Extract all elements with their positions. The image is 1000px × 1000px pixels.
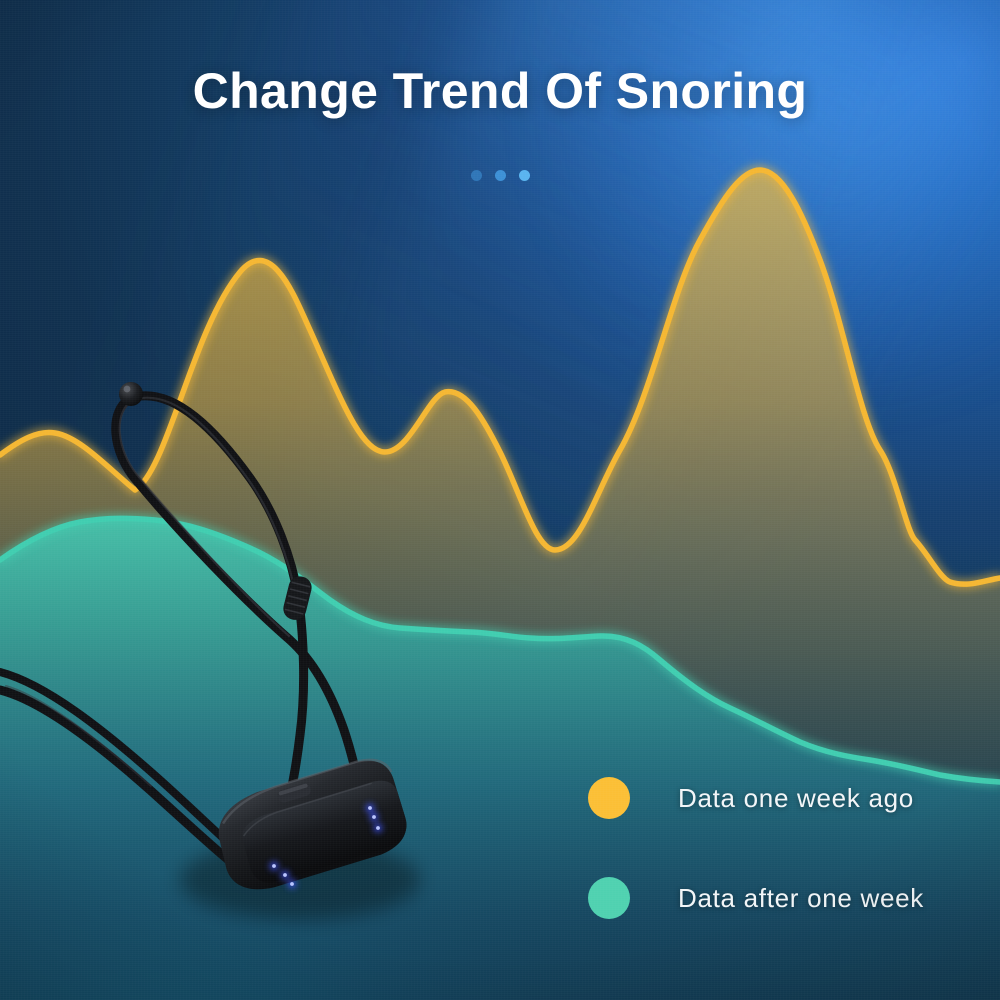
promo-banner: Change Trend Of Snoring Data one week ag… [0,0,1000,1000]
page-title: Change Trend Of Snoring [0,62,1000,120]
pager-dots[interactable] [0,170,1000,181]
pager-dot-3[interactable] [519,170,530,181]
legend-item-before[interactable]: Data one week ago [588,772,924,824]
chart-legend: Data one week ago Data after one week [588,772,924,972]
legend-label-after: Data after one week [678,883,924,914]
circle-marker-icon [588,777,630,819]
pager-dot-1[interactable] [471,170,482,181]
circle-marker-icon [588,877,630,919]
legend-label-before: Data one week ago [678,783,914,814]
legend-item-after[interactable]: Data after one week [588,872,924,924]
pager-dot-2[interactable] [495,170,506,181]
